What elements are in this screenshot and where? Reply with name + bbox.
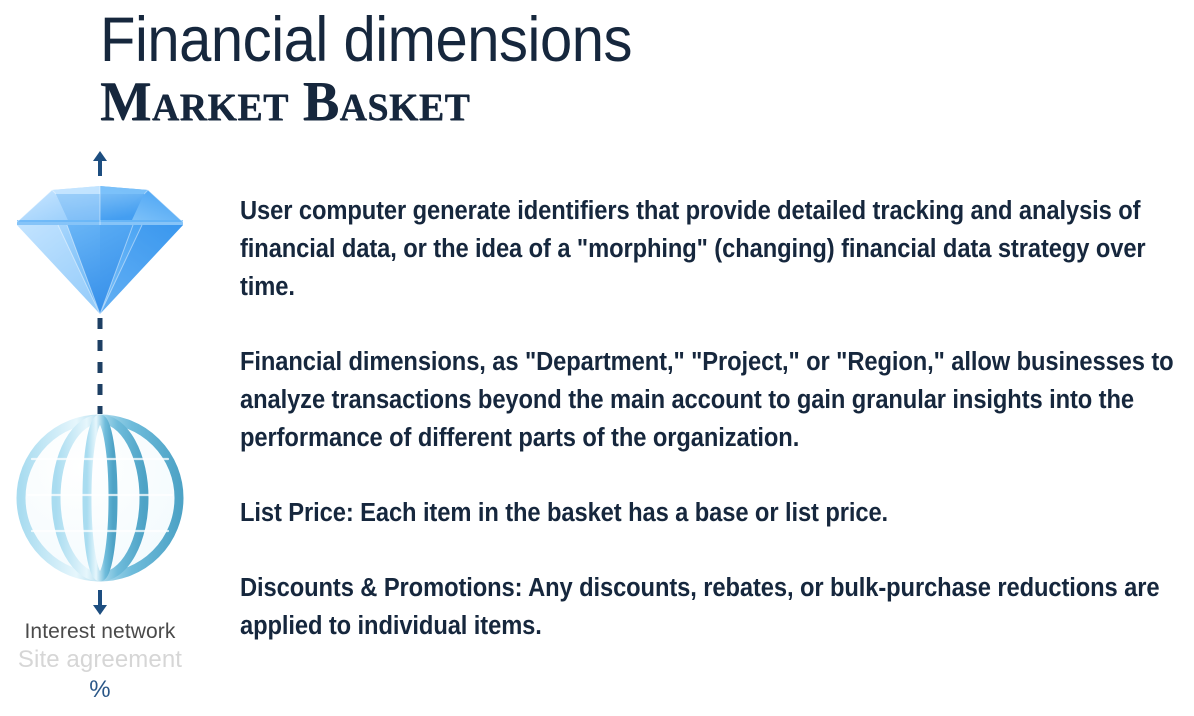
rail-label-percent: %: [0, 675, 200, 705]
page-title: Financial dimensions: [100, 6, 1020, 74]
body-paragraph: Discounts & Promotions: Any discounts, r…: [240, 569, 1184, 645]
body-paragraph: Financial dimensions, as "Department," "…: [240, 343, 1184, 457]
page-subtitle: Market Basket: [100, 72, 1070, 132]
arrow-down-icon: [0, 590, 200, 616]
diamond-gem-icon: [0, 172, 200, 322]
body-paragraph: User computer generate identifiers that …: [240, 192, 1184, 306]
body-copy: User computer generate identifiers that …: [240, 166, 1184, 645]
slide-canvas: Financial dimensions Market Basket: [0, 0, 1194, 716]
globe-grid-icon: [0, 412, 200, 584]
rail-label-group: Interest network Site agreement %: [0, 618, 200, 705]
body-paragraph: List Price: Each item in the basket has …: [240, 494, 1184, 532]
rail-label-site-agreement: Site agreement: [0, 645, 200, 675]
icon-rail: Interest network Site agreement %: [0, 150, 200, 716]
title-block: Financial dimensions Market Basket: [100, 6, 1100, 132]
dashed-line-icon: [0, 318, 200, 414]
rail-label-interest-network: Interest network: [0, 618, 200, 645]
